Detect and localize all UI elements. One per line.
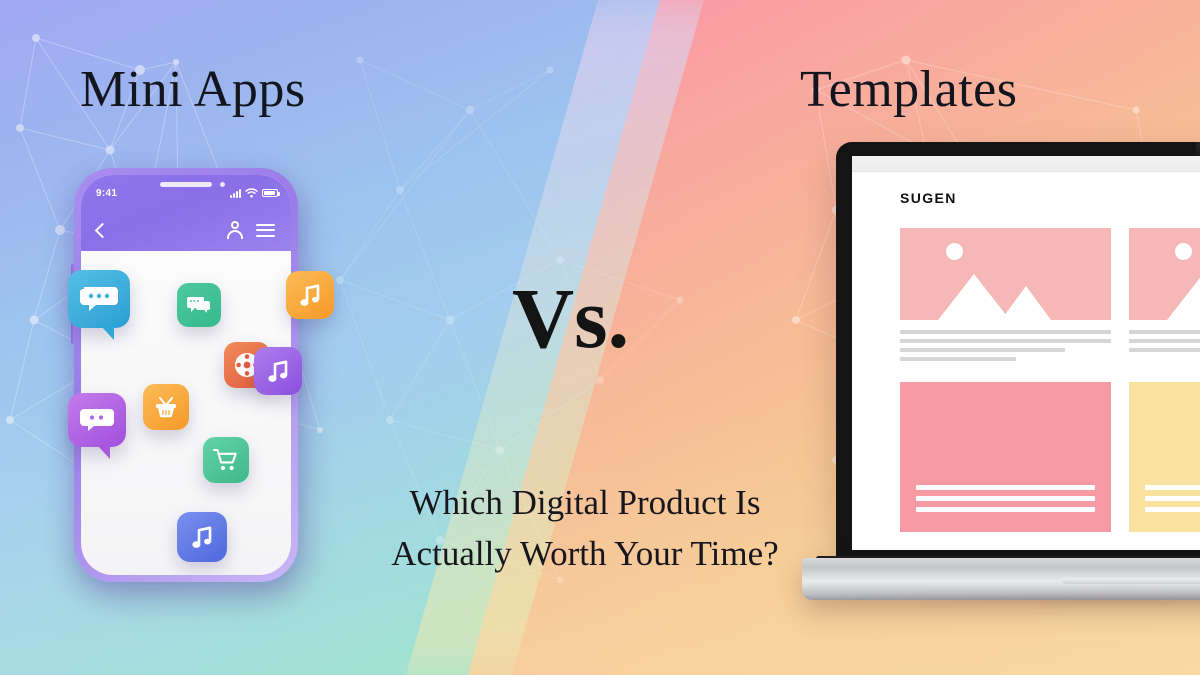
color-card-yellow[interactable] — [1129, 382, 1200, 532]
phone-speaker-notch — [160, 182, 212, 187]
subtitle-question: Which Digital Product Is Actually Worth … — [330, 478, 840, 580]
music-note-glyph — [264, 357, 292, 385]
chat-bubbles-glyph — [186, 294, 212, 316]
laptop-lid-notch — [1061, 578, 1200, 584]
music-note-orange-icon[interactable] — [286, 271, 334, 319]
text-placeholder-lines — [1145, 485, 1200, 518]
image-placeholder-icon — [900, 228, 1111, 320]
wifi-icon — [245, 188, 258, 198]
speech-bubble-glyph — [80, 285, 118, 313]
laptop-mockup: SUGEN — [836, 142, 1200, 642]
text-placeholder-lines — [1129, 330, 1200, 352]
chat-app-icon[interactable] — [177, 283, 221, 327]
cart-app-icon[interactable] — [203, 437, 249, 483]
laptop-ground-shadow — [812, 594, 1200, 606]
image-placeholder-card-1[interactable] — [900, 228, 1111, 366]
text-placeholder-lines — [900, 330, 1111, 361]
music-app-icon[interactable] — [177, 512, 227, 562]
mountain-shape-large — [938, 274, 1010, 320]
color-card-pink[interactable] — [900, 382, 1111, 532]
battery-icon — [262, 189, 278, 197]
chat-bubble-blue[interactable] — [68, 270, 130, 328]
image-placeholder-icon — [1129, 228, 1200, 320]
left-column-title: Mini Apps — [80, 60, 306, 119]
chevron-left-icon[interactable] — [95, 222, 111, 238]
color-card-row — [900, 382, 1200, 532]
sugen-logo: SUGEN — [900, 190, 1200, 206]
signal-bars-icon — [230, 189, 241, 198]
phone-camera-dot — [220, 182, 225, 187]
phone-nav-bar — [81, 209, 291, 251]
chat-bubble-purple[interactable] — [68, 393, 126, 447]
hamburger-menu-icon[interactable] — [256, 224, 275, 237]
subtitle-line-1: Which Digital Product Is — [330, 478, 840, 529]
speech-bubble-glyph — [80, 407, 114, 433]
phone-mockup: 9:41 — [74, 168, 306, 594]
person-icon[interactable] — [226, 221, 244, 239]
text-placeholder-lines — [916, 485, 1095, 518]
laptop-lid: SUGEN — [836, 142, 1200, 560]
shopping-cart-glyph — [212, 447, 240, 473]
mountain-shape-small — [1001, 286, 1051, 320]
shopping-basket-glyph — [152, 393, 180, 421]
phone-status-icons — [230, 188, 278, 198]
music-note-glyph — [188, 523, 216, 551]
browser-toolbar — [852, 156, 1200, 172]
versus-label: Vs. — [512, 268, 629, 368]
right-column-title: Templates — [800, 60, 1017, 119]
sun-shape — [1175, 243, 1192, 260]
phone-status-time: 9:41 — [96, 188, 117, 199]
subtitle-line-2: Actually Worth Your Time? — [330, 529, 840, 580]
sun-shape — [946, 243, 963, 260]
template-page-content: SUGEN — [852, 172, 1200, 532]
music-note-glyph — [296, 281, 324, 309]
basket-app-icon[interactable] — [143, 384, 189, 430]
poster-canvas: Mini Apps Templates Vs. Which Digital Pr… — [0, 0, 1200, 675]
image-placeholder-card-2[interactable] — [1129, 228, 1200, 366]
mountain-shape-large — [1167, 274, 1200, 320]
image-card-row — [900, 228, 1200, 366]
music-note-purple-icon[interactable] — [254, 347, 302, 395]
laptop-screen: SUGEN — [852, 156, 1200, 550]
phone-header-bar: 9:41 — [81, 175, 291, 251]
